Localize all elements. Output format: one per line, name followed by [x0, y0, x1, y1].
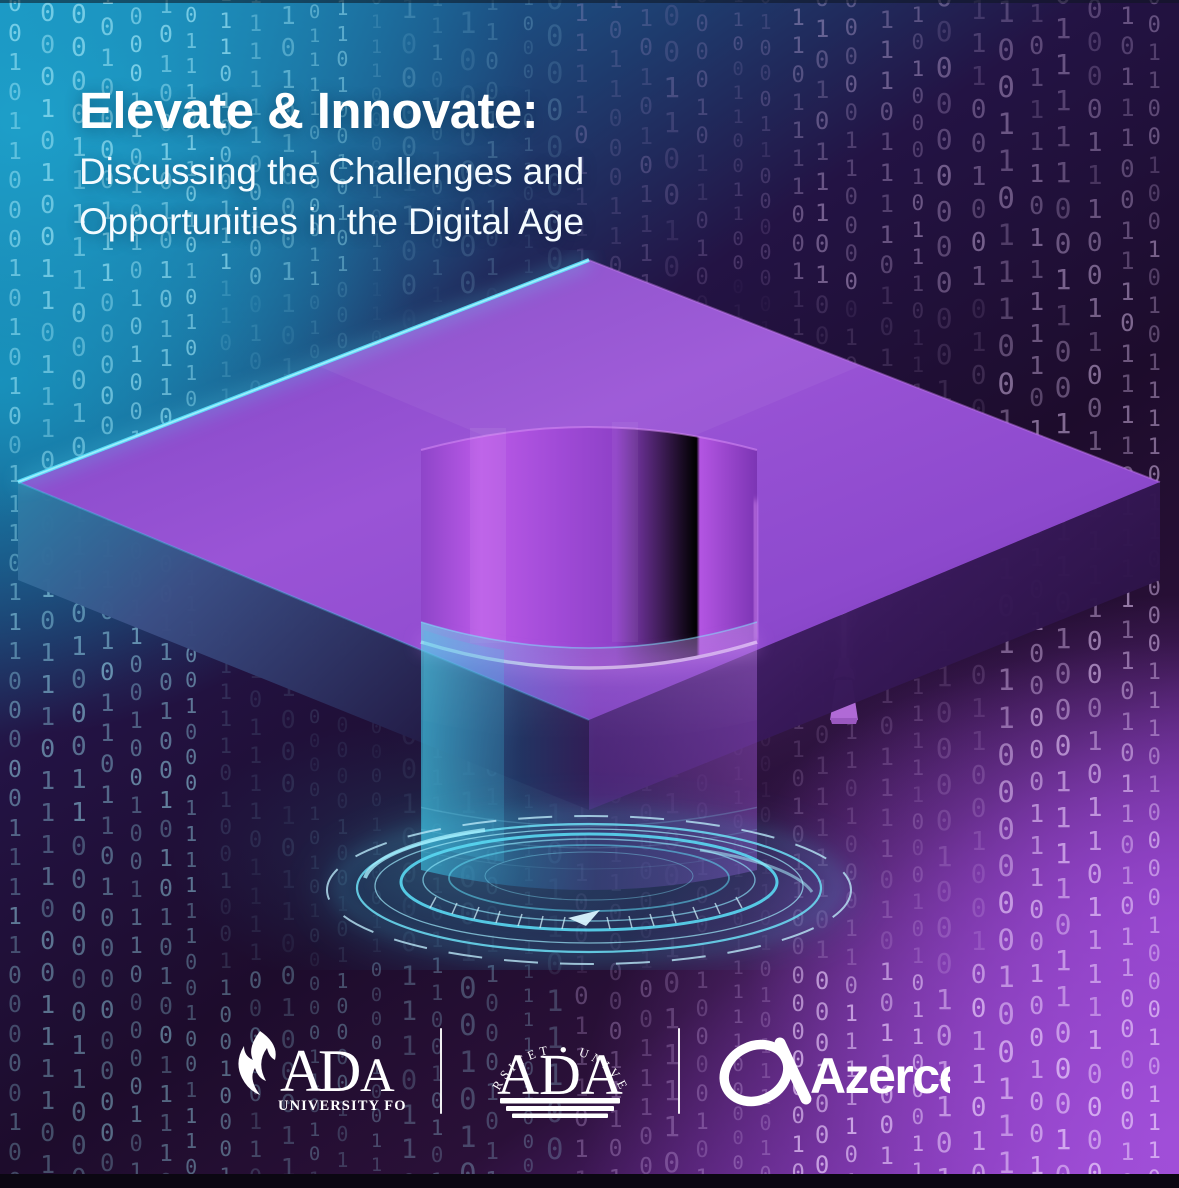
headline-block: Elevate & Innovate: Discussing the Chall…	[79, 84, 584, 248]
azercell-wordmark: Azercell	[810, 1048, 950, 1104]
logo-divider-2	[678, 1028, 680, 1114]
poster-subtitle-line-1: Discussing the Challenges and	[79, 147, 584, 197]
stepped-plinth-icon	[500, 1098, 620, 1118]
svg-text:D: D	[318, 1038, 360, 1104]
logo-ada-university-foundation[interactable]: A D A UNIVERSITY FOUNDATION	[230, 1025, 406, 1117]
bottom-edge-bar	[0, 1174, 1179, 1188]
svg-text:A: A	[280, 1038, 323, 1104]
svg-text:UNIVERSITY FOUNDATION: UNIVERSITY FOUNDATION	[278, 1098, 406, 1114]
logo-azercell[interactable]: Azercell	[714, 1025, 950, 1117]
poster-title: Elevate & Innovate:	[79, 84, 584, 138]
flame-icon	[238, 1031, 275, 1095]
logo-divider-1	[440, 1028, 442, 1114]
poster-subtitle-line-2: Opportunities in the Digital Age	[79, 197, 584, 247]
svg-text:ADA: ADA	[497, 1042, 623, 1107]
graduation-cap-artwork	[0, 250, 1179, 970]
top-edge-bar	[0, 0, 1179, 3]
svg-text:A: A	[360, 1049, 395, 1102]
hud-base-ring	[321, 812, 857, 968]
cap-crown	[421, 422, 757, 668]
poster-canvas: 0001011000101010011101110000011111000001…	[0, 0, 1179, 1188]
logo-row: A D A UNIVERSITY FOUNDATION UNIVERSITET …	[0, 1016, 1179, 1126]
logo-ada-university[interactable]: UNIVERSITET ● UNIVERSITY ADA	[476, 1018, 644, 1124]
